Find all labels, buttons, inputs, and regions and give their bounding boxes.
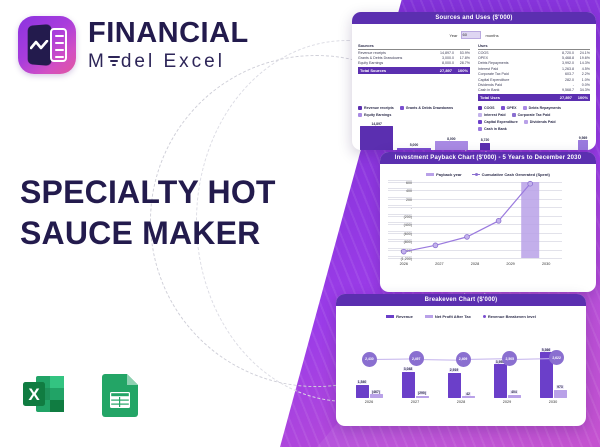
source-row-value: 8,000.0 [432,61,454,65]
legend-net-profit: Net Profit After Tax [425,314,471,319]
x-axis-tick: 2029 [484,400,530,404]
legend-item: COGS [478,106,495,110]
x-axis-tick: 2028 [457,262,493,266]
poster-canvas: FINANCIAL Mdel Excel SPECIALTY HOT SAUCE… [0,0,600,447]
sources-uses-title: Sources and Uses ($'000) [352,12,596,24]
breakeven-card[interactable]: Breakeven Chart ($'000) Revenue Net Prof… [336,294,586,426]
legend-label: Capital Expenditure [484,120,518,124]
bar-value-label: 973 [556,385,564,389]
bar [356,385,369,398]
legend-label: Dividends Paid [530,120,556,124]
use-row-pct: 2.2% [574,72,590,76]
legend-item: OPEX [501,106,517,110]
cumulative-cash-line [404,184,530,252]
table-row: Debts Repayments3,992.014.3% [478,61,590,66]
legend-revenue-label: Revenue [396,314,413,319]
legend-item: Cash in Bank [478,127,507,131]
source-row-name: Grants & Debts Drawdowns [358,56,432,60]
control-input-value[interactable]: 60 [461,31,481,39]
x-axis-tick: 2028 [438,400,484,404]
sources-total-label: Total Sources [360,68,430,73]
legend-item: Dividends Paid [524,120,556,124]
use-row-value: 9,568.7 [552,88,574,92]
brand-subtitle-excel: Excel [163,52,224,71]
stylized-o-icon [108,55,120,69]
bar [448,373,461,398]
bar [480,143,490,150]
legend-label: Grants & Debts Drawdowns [406,106,453,110]
x-axis-tick: 2027 [422,262,458,266]
zigzag-icon [30,40,49,51]
legend-item: Grants & Debts Drawdowns [400,106,453,110]
bar-value-label: (290) [417,391,427,395]
use-row-pct: 14.3% [574,61,590,65]
legend-revenue: Revenue [386,314,413,319]
bar-value-label: 2,919 [449,368,460,372]
bar [370,394,383,398]
source-row-pct: 17.8% [454,56,470,60]
bar-value-label: 42 [465,392,471,396]
use-row-value: 603.7 [552,72,574,76]
legend-breakeven-level: Revenue Breakeven level [483,314,536,319]
legend-item: Interest Paid [478,113,506,117]
legend-label: OPEX [507,106,517,110]
page-title: SPECIALTY HOT SAUCE MAKER [20,172,320,254]
bar-value-label: 8,720 [481,138,490,142]
table-row: Revenue receipts14,897.053.9% [358,50,470,55]
table-row: Dividends Paid-0.0% [478,82,590,87]
bar-value-label: 1,540 [357,380,368,384]
legend-item: Corporate Tax Paid [512,113,551,117]
control-label-year: Year [449,33,457,38]
sources-header: Sources [358,43,470,50]
table-row: Equity Earnings8,000.028.7% [358,61,470,66]
bar-value-label: (467) [371,390,381,394]
use-row-pct: 4.5% [574,67,590,71]
use-row-name: OPEX [478,56,552,60]
sources-total-pct: 100% [452,68,468,73]
legend-breakeven-level-label: Revenue Breakeven level [488,314,536,319]
legend-label: Corporate Tax Paid [518,113,551,117]
uses-total-pct: 100% [572,95,588,100]
bar-column: 9,569 [578,133,588,150]
legend-item: Equity Earnings [358,113,391,117]
bar-value-label: 14,897 [371,122,381,126]
data-point [401,249,406,254]
use-row-name: Interest Paid [478,67,552,71]
bar-value-label: 3,048 [403,367,414,371]
bar-value-label: 9,569 [579,136,588,140]
legend-label: Revenue receipts [364,106,394,110]
source-row-value: 3,000.0 [432,56,454,60]
control-label-months: months [485,33,498,38]
legend-item: Capital Expenditure [478,120,518,124]
use-row-name: Debts Repayments [478,61,552,65]
use-row-value: 8,720.0 [552,51,574,55]
brand-subtitle-del: del [121,52,155,71]
bar-column: 5,000 [397,119,430,150]
legend-cumulative-cash-label: Cumulative Cash Generated (Spent) [482,172,550,177]
sources-table: Sources Revenue receipts14,897.053.9%Gra… [358,43,470,101]
use-row-pct: 0.0% [574,83,590,87]
sources-bars: 14,8975,0008,000 [358,119,470,150]
sources-total-value: 27,897 [430,68,452,73]
bar [435,141,468,150]
breakeven-plot: 1,540(467)3,048(290)2,919423,9564045,366… [346,320,576,398]
payback-title: Investment Payback Chart ($'000) - 5 Yea… [380,152,596,164]
brand-subtitle-m: M [88,52,107,71]
microsoft-excel-icon[interactable]: X [18,368,70,420]
payback-year-bar [521,182,539,258]
payback-plot: 600400200-(200)(400)(600)(800)(1,000)(1,… [388,179,588,261]
bar-column: 1,264 [522,133,532,150]
data-point [465,234,470,239]
bar [494,364,507,398]
use-row-name: Cash in Bank [478,88,552,92]
bar-value-label: 5,366 [541,348,552,352]
bar [462,396,475,398]
svg-text:X: X [28,385,40,404]
use-row-value: 3,992.0 [552,61,574,65]
source-row-pct: 28.7% [454,61,470,65]
uses-bar-chart: COGSOPEXDebts RepaymentsInterest PaidCor… [478,103,590,150]
use-row-value: 5,468.8 [552,56,574,60]
legend-label: Debts Repayments [529,106,561,110]
use-row-name: Dividends Paid [478,83,552,87]
use-row-pct: 34.3% [574,88,590,92]
sources-total-row: Total Sources 27,897 100% [358,67,470,74]
legend-item: Revenue receipts [358,106,394,110]
bar-column: - [564,133,574,150]
financial-model-logo-icon [18,16,76,74]
investment-payback-card[interactable]: Investment Payback Chart ($'000) - 5 Yea… [380,152,596,292]
x-axis-tick: 2026 [386,262,422,266]
uses-header: Uses [478,43,590,50]
headline-line-1: SPECIALTY HOT [20,172,320,213]
use-row-name: Corporate Tax Paid [478,72,552,76]
bar [416,396,429,398]
table-row: Capital Expenditure282.01.0% [478,77,590,82]
legend-cumulative-cash: Cumulative Cash Generated (Spent) [472,172,550,177]
brand-title: FINANCIAL [88,19,249,48]
brand-subtitle: Mdel Excel [88,52,249,71]
bar-column: 8,000 [435,119,468,150]
table-row: OPEX5,468.819.6% [478,55,590,60]
legend-payback-year: Payback year [426,172,462,177]
uses-table: Uses COGS8,720.024.1%OPEX5,468.819.6%Deb… [478,43,590,101]
google-sheets-icon[interactable] [94,368,146,420]
x-axis-tick: 2030 [528,262,564,266]
use-row-value: 1,263.8 [552,67,574,71]
legend-net-profit-label: Net Profit After Tax [435,314,471,319]
brand-text: FINANCIAL Mdel Excel [88,19,249,71]
source-row-name: Revenue receipts [358,51,432,55]
bar [578,140,588,150]
bar [402,372,415,398]
bar-column: 604 [536,133,546,150]
payback-x-axis: 20262027202820292030 [386,262,564,266]
bar-column: 282 [550,133,560,150]
sources-uses-tables: Sources Revenue receipts14,897.053.9%Gra… [358,43,590,101]
breakeven-x-axis: 20262027202820292030 [346,400,576,404]
breakeven-value-bubble: 2,409 [456,352,471,367]
x-axis-tick: 2027 [392,400,438,404]
data-point [496,218,501,223]
uses-total-value: 27,897 [550,95,572,100]
x-axis-tick: 2030 [530,400,576,404]
brand-lockup: FINANCIAL Mdel Excel [18,16,249,74]
logo-document-lines-icon [50,28,67,62]
bar [508,395,521,398]
data-point [433,243,438,248]
breakeven-value-bubble: 2,497 [409,351,424,366]
use-row-pct: 1.0% [574,78,590,82]
uses-total-label: Total Uses [480,95,550,100]
use-row-value: - [552,83,574,87]
headline-line-2: SAUCE MAKER [20,213,320,254]
legend-item: Debts Repayments [523,106,561,110]
x-axis-tick: 2026 [346,400,392,404]
file-format-icons: X [18,368,146,420]
source-row-value: 14,897.0 [432,51,454,55]
use-row-name: COGS [478,51,552,55]
bar-value-label: 404 [510,390,518,394]
bar [554,390,567,398]
legend-label: Interest Paid [484,113,506,117]
bar-column: 14,897 [360,119,393,150]
bar [360,126,393,150]
use-row-pct: 19.6% [574,56,590,60]
bar [397,148,430,150]
use-row-value: 282.0 [552,78,574,82]
table-row: Interest Paid1,263.84.5% [478,66,590,71]
use-row-pct: 24.1% [574,51,590,55]
payback-line-series [388,179,572,261]
legend-label: Cash in Bank [484,127,507,131]
breakeven-value-bubble: 2,430 [362,352,377,367]
uses-bars: 8,7205,4693,9921,264604282-9,569 [478,133,590,150]
breakeven-legend: Revenue Net Profit After Tax Revenue Bre… [342,314,580,319]
bar-column: 5,469 [494,133,504,150]
sources-chart-legend: Revenue receiptsGrants & Debts Drawdowns… [358,106,470,117]
legend-label: Equity Earnings [364,113,391,117]
table-row: Grants & Debts Drawdowns3,000.017.8% [358,55,470,60]
payback-legend: Payback year Cumulative Cash Generated (… [386,172,590,177]
uses-chart-legend: COGSOPEXDebts RepaymentsInterest PaidCor… [478,106,590,131]
bar-column: 3,992 [508,133,518,150]
sources-uses-controls[interactable]: Year 60 months [358,31,590,39]
table-row: COGS8,720.024.1% [478,50,590,55]
legend-label: COGS [484,106,495,110]
use-row-name: Capital Expenditure [478,78,552,82]
data-point [528,181,533,186]
source-row-name: Equity Earnings [358,61,432,65]
sources-bar-chart: Revenue receiptsGrants & Debts Drawdowns… [358,103,470,150]
bar-value-label: 5,000 [410,143,419,147]
table-row: Corporate Tax Paid603.72.2% [478,72,590,77]
uses-total-row: Total Uses 27,897 100% [478,94,590,101]
x-axis-tick: 2029 [493,262,529,266]
bar-value-label: 8,000 [447,137,456,141]
breakeven-title: Breakeven Chart ($'000) [336,294,586,306]
source-row-pct: 53.9% [454,51,470,55]
sources-and-uses-card[interactable]: Sources and Uses ($'000) Year 60 months … [352,12,596,150]
table-row: Cash in Bank9,568.734.3% [478,88,590,93]
legend-payback-year-label: Payback year [436,172,462,177]
bar-column: 8,720 [480,133,490,150]
